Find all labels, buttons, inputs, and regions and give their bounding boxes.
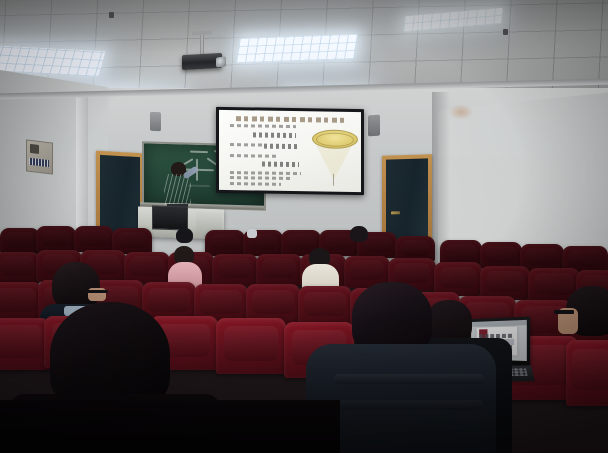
slide-body-line (230, 176, 292, 180)
seat (212, 254, 258, 286)
wall-stain (448, 104, 474, 120)
projected-slide (219, 110, 361, 192)
laptop-toolbar (471, 320, 527, 327)
slide-equation (264, 143, 298, 149)
seat (256, 254, 302, 286)
projection-screen (216, 107, 364, 195)
slide-body-line (230, 182, 281, 186)
jacket-seam (334, 374, 484, 384)
lectern-monitor (152, 205, 188, 230)
jacket-seam (334, 400, 484, 410)
seat (480, 242, 522, 269)
seat (0, 252, 40, 284)
projector-lens-icon (216, 56, 226, 67)
ceiling-fixture-dot (109, 12, 114, 18)
cone-axis-line (333, 173, 334, 185)
wall-speaker-right (368, 115, 380, 137)
glasses-icon (554, 310, 574, 314)
ceiling-fixture-dot (503, 29, 508, 35)
slide-title-text (236, 116, 347, 123)
cone-mesh-lines (316, 132, 354, 147)
foreground-shadow (0, 400, 340, 453)
lecture-hall-photo: ASUS (0, 0, 608, 453)
slide-equation (253, 133, 296, 139)
slide-body-line (230, 143, 261, 146)
seat (480, 266, 530, 300)
wall-control-panel[interactable] (26, 139, 53, 174)
seat (566, 340, 608, 406)
seat (205, 230, 245, 256)
door-handle-icon[interactable] (391, 211, 400, 214)
seat (0, 282, 42, 322)
chalk-mark (190, 151, 208, 154)
slide-equation (262, 162, 299, 168)
cone-surface-diagram (310, 129, 358, 182)
seat (0, 318, 50, 370)
seat (216, 318, 286, 374)
glasses-icon (86, 290, 108, 293)
fluorescent-panel-center-front-light (236, 34, 358, 63)
projector-mount-pole (200, 35, 204, 56)
slide-body-line (230, 124, 295, 128)
control-panel-display (30, 144, 39, 154)
slide-body-line (230, 171, 301, 175)
attendee-head (176, 228, 193, 243)
seat (36, 226, 76, 252)
wall-corner-highlight (76, 96, 88, 246)
seat (74, 226, 114, 252)
slide-body-line (230, 154, 275, 158)
presenter-shirt (164, 174, 191, 206)
water-bottle-icon (247, 229, 257, 238)
seat (0, 228, 40, 254)
attendee-head (350, 226, 368, 242)
control-panel-buttons[interactable] (29, 158, 49, 167)
seat (434, 262, 482, 296)
seat (298, 286, 352, 326)
wall-speaker-left (150, 112, 161, 132)
